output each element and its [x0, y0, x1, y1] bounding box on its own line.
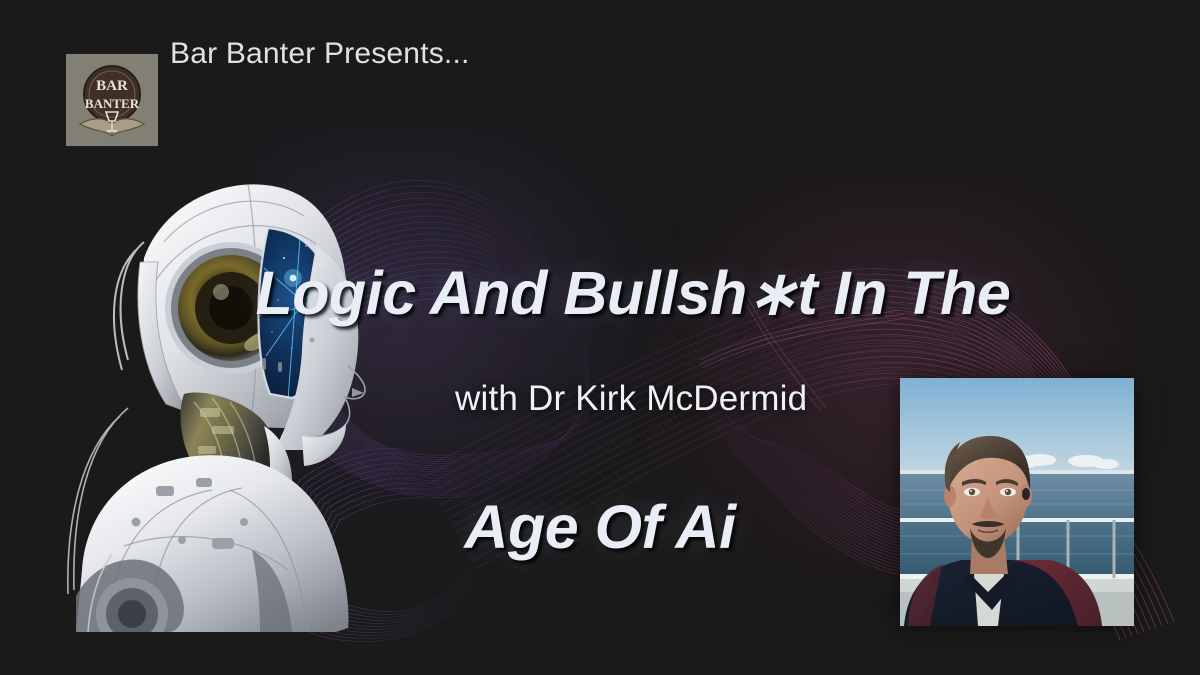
speaker-photo	[900, 378, 1134, 626]
title-line-1: Logic And Bullsh∗t In The	[256, 259, 1011, 327]
logo-word-bar: BAR	[96, 78, 128, 94]
presents-label: Bar Banter Presents...	[170, 37, 470, 71]
logo-word-banter: BANTER	[85, 96, 140, 111]
speaker-credit: with Dr Kirk McDermid	[455, 379, 807, 419]
presentation-slide: BAR BANTER Bar Banter Presents... Logic …	[0, 0, 1200, 675]
